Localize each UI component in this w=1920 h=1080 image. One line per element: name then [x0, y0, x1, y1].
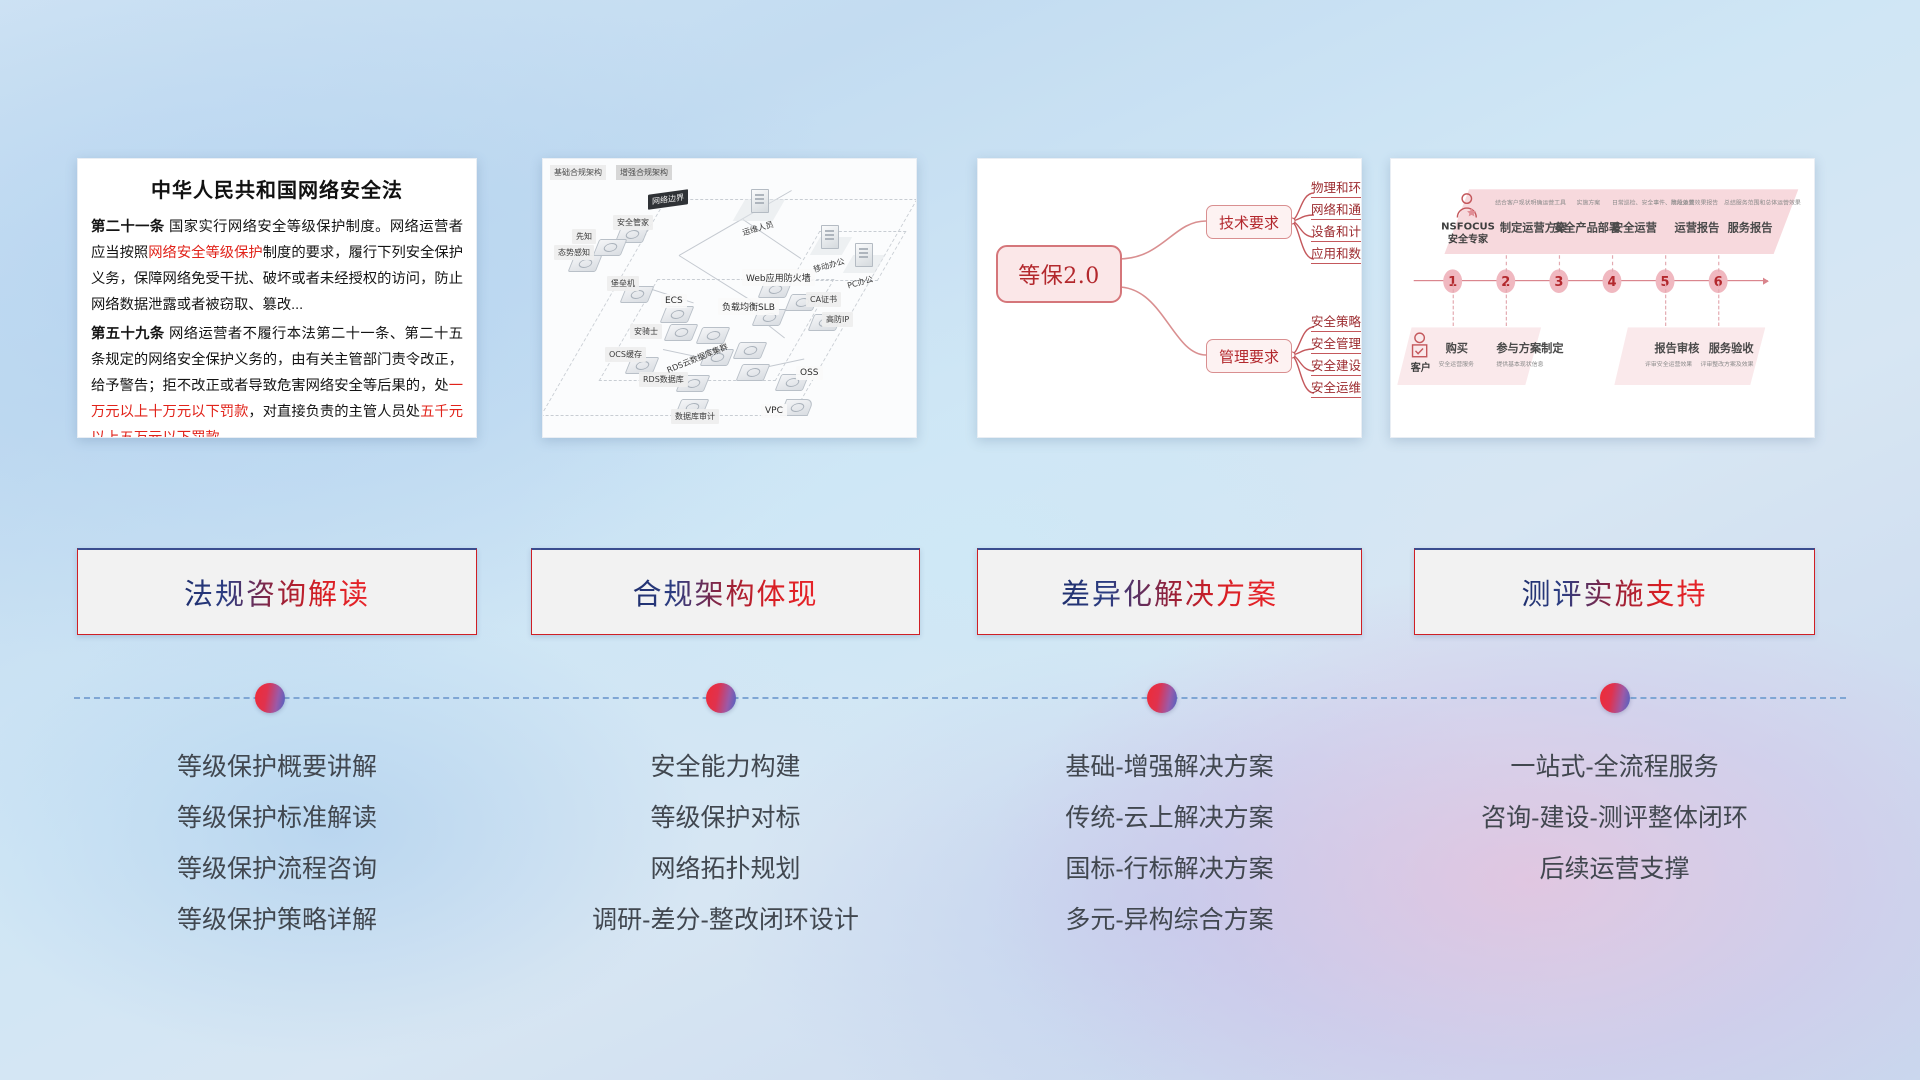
column-1-line: 等级保护概要讲解 — [77, 755, 477, 780]
law-article-21-highlight: 网络安全等级保护 — [148, 245, 262, 261]
column-2-line: 等级保护对标 — [531, 806, 920, 831]
timeline-dashed-link — [1506, 284, 1508, 326]
column-1: 等级保护概要讲解 等级保护标准解读 等级保护流程咨询 等级保护策略详解 — [77, 755, 477, 959]
headline-box-2-label: 合规架构体现 — [632, 571, 818, 613]
mindmap-leaf: 安全建设管理 — [1311, 355, 1362, 376]
timeline-top-title: 服务报告 — [1728, 219, 1773, 236]
service-timeline: NSFOCUS 安全专家 客户 1 2 3 4 5 6 — [1390, 158, 1815, 438]
column-4-line: 一站式-全流程服务 — [1414, 755, 1815, 780]
column-2-line: 调研-差分-整改闭环设计 — [531, 908, 920, 933]
mindmap-leaf: 网络和通信安全 — [1311, 199, 1362, 220]
timeline-dashed-link — [1665, 284, 1667, 326]
mindmap-leaf: 安全管理机构和人员 — [1311, 333, 1362, 354]
timeline-dashed-link — [1559, 255, 1561, 272]
timeline-brand-sub: 安全专家 — [1448, 234, 1488, 246]
timeline-bottom-sub: 安全运营服务 — [1439, 360, 1474, 368]
arch-label-slb: 负载均衡SLB — [718, 298, 779, 315]
arch-server-mobile — [821, 225, 839, 249]
arch-label-oss: OSS — [796, 366, 823, 380]
timeline-top-title: 安全产品部署 — [1553, 219, 1620, 236]
column-2: 安全能力构建 等级保护对标 网络拓扑规划 调研-差分-整改闭环设计 — [531, 755, 920, 959]
timeline-marker-1[interactable] — [255, 683, 285, 713]
architecture-diagram: 基础合规架构 增强合规架构 网络边界 运维人员 — [543, 159, 916, 437]
timeline-marker-4[interactable] — [1600, 683, 1630, 713]
timeline-bottom-title: 购买 — [1446, 339, 1468, 356]
timeline-customer-label: 客户 — [1405, 363, 1436, 376]
arch-label-rds: RDS数据库 — [639, 372, 688, 387]
arch-label-anti-ddos: 高防IP — [822, 312, 853, 327]
timeline-brand-name: NSFOCUS — [1441, 221, 1495, 233]
law-article-59-part2: ，对直接负责的主管人员处 — [248, 404, 420, 420]
timeline-bottom-title: 服务验收 — [1709, 339, 1754, 356]
column-4-line: 咨询-建设-测评整体闭环 — [1414, 806, 1815, 831]
timeline-bottom-title: 参与方案制定 — [1496, 339, 1563, 356]
arch-label-xianzhi: 先知 — [572, 229, 596, 244]
mindmap-leaf: 安全策略和管理制度 — [1311, 311, 1362, 332]
law-title: 中华人民共和国网络安全法 — [78, 174, 476, 203]
timeline-top-sub: 实施方案 — [1577, 199, 1601, 207]
arch-server-pc — [855, 243, 873, 267]
arch-label-situation-awareness: 态势感知 — [554, 245, 594, 260]
arch-label-ocs-cache: OCS缓存 — [605, 347, 646, 362]
arch-label-waf: Web应用防火墙 — [742, 269, 815, 286]
timeline-bottom-title: 报告审核 — [1654, 339, 1699, 356]
card-law-text: 中华人民共和国网络安全法 第二十一条 国家实行网络安全等级保护制度。网络运营者应… — [77, 158, 477, 438]
timeline-dashed-link — [1453, 284, 1455, 326]
headline-box-2[interactable]: 合规架构体现 — [531, 548, 920, 635]
arch-label-db-audit: 数据库审计 — [671, 409, 719, 424]
arch-tab-basic[interactable]: 基础合规架构 — [550, 165, 606, 180]
column-3: 基础-增强解决方案 传统-云上解决方案 国标-行标解决方案 多元-异构综合方案 — [977, 755, 1362, 959]
mindmap-leaf: 安全运维管理 — [1311, 377, 1362, 398]
column-1-line: 等级保护流程咨询 — [77, 857, 477, 882]
timeline-dashed-link — [1718, 255, 1720, 272]
column-2-line: 安全能力构建 — [531, 755, 920, 780]
headline-box-1-label: 法规咨询解读 — [184, 571, 370, 613]
timeline-track — [74, 697, 1846, 699]
timeline-dashed-link — [1718, 284, 1720, 326]
headline-box-4[interactable]: 测评实施支持 — [1414, 548, 1815, 635]
timeline-dashed-link — [1665, 255, 1667, 272]
arch-label-anqishi: 安骑士 — [630, 324, 662, 339]
law-article-21-label: 第二十一条 — [91, 219, 165, 235]
timeline-bottom-sub: 提供基本现状信息 — [1496, 360, 1543, 368]
mindmap-branch-technical: 技术要求 — [1206, 205, 1292, 239]
timeline-top-title: 安全运营 — [1612, 219, 1657, 236]
timeline-step-4[interactable]: 4 — [1603, 269, 1622, 293]
column-3-line: 基础-增强解决方案 — [977, 755, 1362, 780]
timeline-top-sub: 阶段运营效果报告 — [1671, 199, 1718, 207]
column-4: 一站式-全流程服务 咨询-建设-测评整体闭环 后续运营支撑 — [1414, 755, 1815, 908]
slide-canvas: 中华人民共和国网络安全法 第二十一条 国家实行网络安全等级保护制度。网络运营者应… — [0, 0, 1920, 1080]
arch-tab-enhanced[interactable]: 增强合规架构 — [616, 165, 672, 180]
headline-box-3[interactable]: 差异化解决方案 — [977, 548, 1362, 635]
customer-person-icon — [1408, 331, 1432, 362]
timeline-dashed-link — [1506, 255, 1508, 272]
arch-label-ecs: ECS — [661, 294, 687, 308]
mindmap-leaf: 应用和数据安全 — [1311, 243, 1362, 264]
arch-label-security-butler: 安全管家 — [613, 215, 653, 230]
timeline-marker-2[interactable] — [706, 683, 736, 713]
card-service-timeline: NSFOCUS 安全专家 客户 1 2 3 4 5 6 — [1390, 158, 1815, 438]
timeline-bottom-sub: 评审安全运营效果 — [1645, 360, 1692, 368]
law-article-59: 第五十九条 网络运营者不履行本法第二十一条、第二十五条规定的网络安全保护义务的，… — [91, 321, 463, 438]
arch-server-ops — [751, 189, 769, 213]
card-mindmap: 等保2.0 技术要求 管理要求 物理和环境安全 网络和通信安全 设备和计算安全 … — [977, 158, 1362, 438]
headline-box-1[interactable]: 法规咨询解读 — [77, 548, 477, 635]
column-2-line: 网络拓扑规划 — [531, 857, 920, 882]
timeline-marker-3[interactable] — [1147, 683, 1177, 713]
headline-box-3-label: 差异化解决方案 — [1061, 571, 1278, 613]
mindmap-diagram: 等保2.0 技术要求 管理要求 物理和环境安全 网络和通信安全 设备和计算安全 … — [978, 159, 1361, 437]
timeline-bottom-sub: 评审整改方案及效果 — [1700, 360, 1753, 368]
law-article-59-label: 第五十九条 — [91, 326, 165, 342]
column-1-line: 等级保护标准解读 — [77, 806, 477, 831]
mindmap-branch-management: 管理要求 — [1206, 339, 1292, 373]
arch-label-ca-cert: CA证书 — [806, 292, 841, 307]
card-cloud-architecture: 基础合规架构 增强合规架构 网络边界 运维人员 — [542, 158, 917, 438]
column-4-line: 后续运营支撑 — [1414, 857, 1815, 882]
arch-label-vpc: VPC — [761, 404, 787, 418]
column-3-line: 国标-行标解决方案 — [977, 857, 1362, 882]
mindmap-root: 等保2.0 — [996, 245, 1122, 303]
law-article-21: 第二十一条 国家实行网络安全等级保护制度。网络运营者应当按照网络安全等级保护制度… — [91, 214, 463, 318]
expert-person-icon — [1454, 192, 1480, 220]
mindmap-leaf: 物理和环境安全 — [1311, 177, 1362, 198]
headline-box-4-label: 测评实施支持 — [1521, 571, 1707, 613]
arch-node-xianzhi — [593, 239, 628, 256]
column-3-line: 传统-云上解决方案 — [977, 806, 1362, 831]
law-body: 第二十一条 国家实行网络安全等级保护制度。网络运营者应当按照网络安全等级保护制度… — [78, 214, 476, 438]
timeline-band-customer-right — [1614, 327, 1765, 385]
timeline-top-sub: 结合客户现状明确运营工具 — [1495, 199, 1566, 207]
arch-label-bastion: 堡垒机 — [607, 276, 639, 291]
timeline-top-sub: 总结服务范围和总体运营效果 — [1724, 199, 1801, 207]
column-3-line: 多元-异构综合方案 — [977, 908, 1362, 933]
column-1-line: 等级保护策略详解 — [77, 908, 477, 933]
timeline-top-title: 运营报告 — [1675, 219, 1720, 236]
timeline-brand: NSFOCUS 安全专家 — [1440, 221, 1497, 246]
mindmap-leaf: 设备和计算安全 — [1311, 221, 1362, 242]
timeline-step-3[interactable]: 3 — [1549, 269, 1568, 293]
timeline-dashed-link — [1612, 255, 1614, 272]
